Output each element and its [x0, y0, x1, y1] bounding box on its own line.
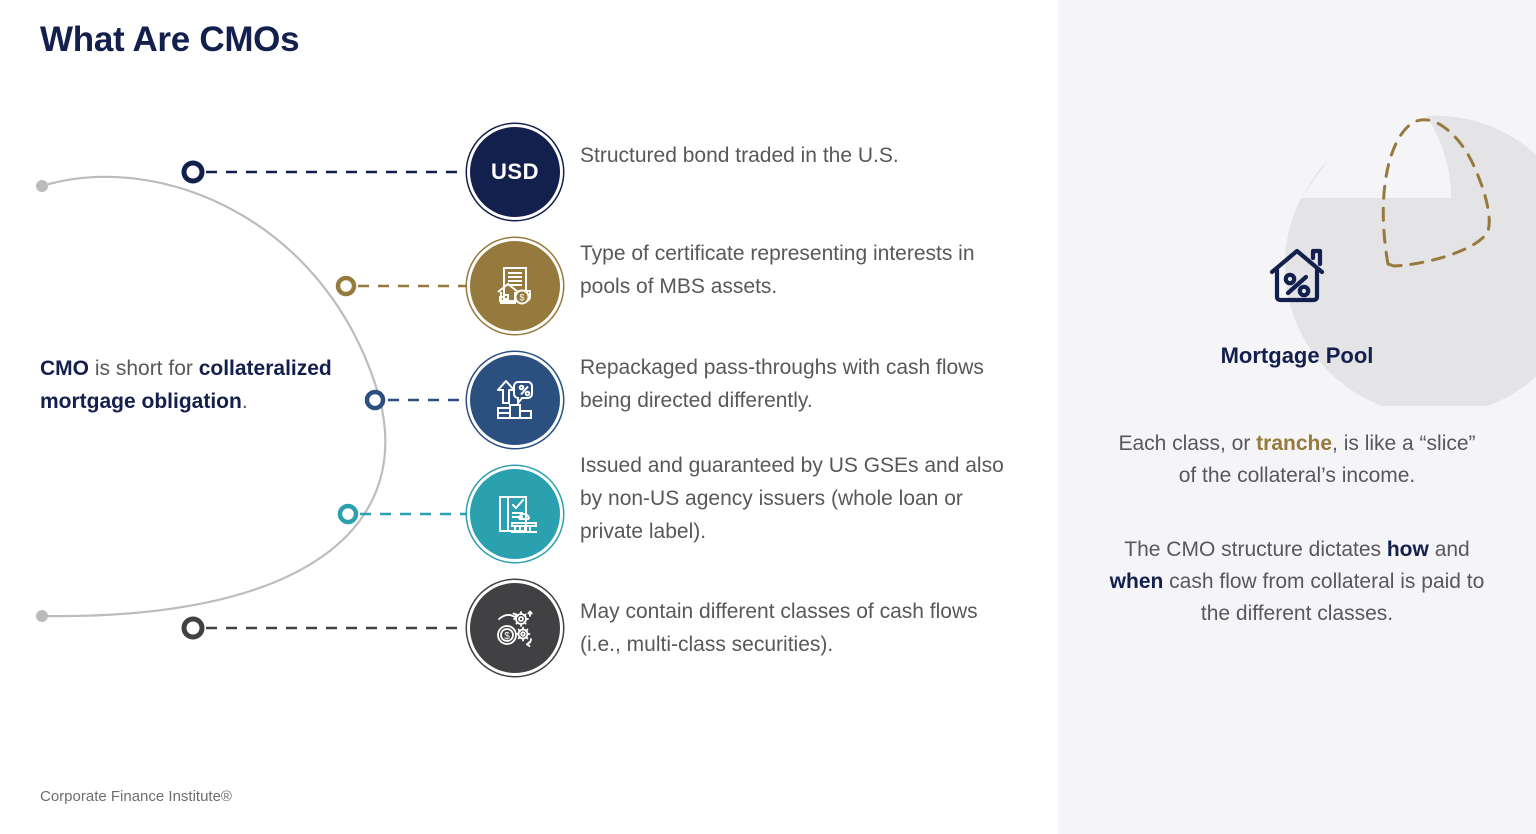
left-panel: What Are CMOs CMO is short for collatera… [0, 0, 1058, 834]
definition-lead: CMO [40, 357, 89, 380]
para1-part1: Each class, or [1118, 432, 1256, 455]
icon-circle-certificate: $ [470, 241, 560, 331]
tranche-paragraph: Each class, or tranche, is like a “slice… [1108, 428, 1486, 492]
icon-circle-gse [470, 469, 560, 559]
para2-part3: cash flow from collateral is paid to the… [1163, 570, 1484, 625]
list-item-text: Type of certificate representing interes… [580, 237, 1010, 303]
certificate-house-icon: $ [490, 261, 540, 311]
para2-bold1: how [1387, 538, 1429, 561]
arc-marker-2 [338, 278, 354, 294]
para2-part1: The CMO structure dictates [1124, 538, 1387, 561]
infographic-canvas: What Are CMOs CMO is short for collatera… [0, 0, 1536, 834]
definition-period: . [242, 390, 248, 413]
icon-circle-repackaged [470, 355, 560, 445]
list-item-text: Repackaged pass-throughs with cash flows… [580, 351, 1010, 417]
house-percent-icon [1266, 246, 1328, 306]
arc-endpoint-top [36, 180, 48, 192]
para1-highlight: tranche [1256, 432, 1332, 455]
mortgage-pool-chart: Mortgage Pool [1058, 46, 1536, 406]
para2-bold2: when [1110, 570, 1164, 593]
gears-money-icon: $ [490, 603, 540, 653]
list-item-text: Issued and guaranteed by US GSEs and als… [580, 449, 1010, 548]
arc-marker-4 [340, 506, 356, 522]
arc-marker-5 [184, 619, 202, 637]
icon-circle-multiclass: $ [470, 583, 560, 673]
footer-brand-text: Corporate Finance Institute® [40, 788, 232, 805]
arrow-up-percent-steps-icon [490, 375, 540, 425]
arc-endpoint-bottom [36, 610, 48, 622]
right-panel: Mortgage Pool Each class, or tranche, is… [1058, 0, 1536, 834]
icon-circle-usd: USD [470, 127, 560, 217]
arc-marker-1 [184, 163, 202, 181]
arc-marker-3 [367, 392, 383, 408]
list-item-text: May contain different classes of cash fl… [580, 595, 1010, 661]
definition-text: CMO is short for collateralized mortgage… [40, 352, 340, 418]
para2-part2: and [1429, 538, 1470, 561]
svg-text:$: $ [519, 293, 524, 303]
cmo-structure-paragraph: The CMO structure dictates how and when … [1108, 534, 1486, 630]
list-item-text: Structured bond traded in the U.S. [580, 139, 1010, 172]
pie-edge-trim [1290, 50, 1301, 198]
usd-icon: USD [491, 159, 539, 185]
pool-label: Mortgage Pool [1058, 343, 1536, 369]
svg-text:$: $ [504, 631, 510, 642]
document-government-building-icon [490, 489, 540, 539]
definition-middle: is short for [89, 357, 199, 380]
